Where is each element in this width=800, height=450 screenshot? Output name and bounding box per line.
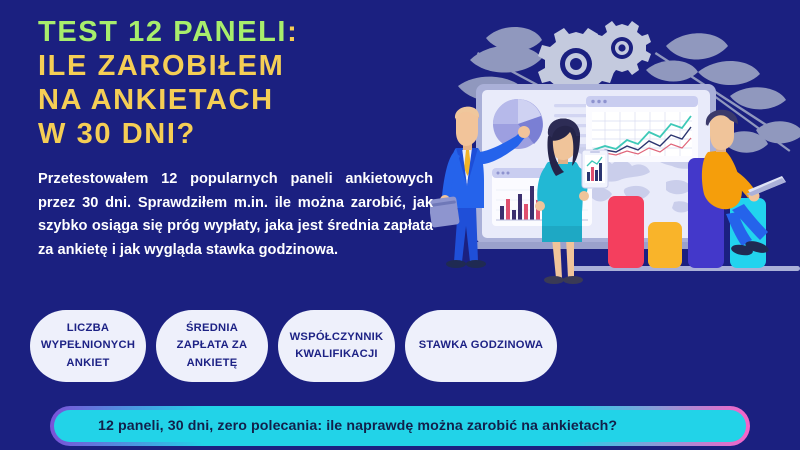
pill-liczba-wypelnionych-ankiet[interactable]: LICZBA WYPEŁNIONYCH ANKIET <box>30 310 146 382</box>
bar-red <box>608 196 644 268</box>
pill-srednia-zaplata-za-ankiete[interactable]: ŚREDNIA ZAPŁATA ZA ANKIETĘ <box>156 310 268 382</box>
pill-wspolczynnik-kwalifikacji[interactable]: WSPÓŁCZYNNIK KWALIFIKACJI <box>278 310 395 382</box>
intro-paragraph: Przetestowałem 12 popularnych paneli ank… <box>38 168 433 263</box>
headline-line-3: NA ANKIETACH <box>38 86 458 115</box>
headline-line-1-text: TEST 12 PANELI <box>38 16 287 48</box>
bottom-banner-frame: 12 paneli, 30 dni, zero polecania: ile n… <box>50 406 750 446</box>
pill-stawka-godzinowa[interactable]: STAWKA GODZINOWA <box>405 310 557 382</box>
headline-line-4: W 30 DNI? <box>38 120 458 149</box>
headline-colon: : <box>287 16 298 48</box>
pill-row-spacer <box>567 310 782 382</box>
infographic-canvas: TEST 12 PANELI: ILE ZAROBIŁEM NA ANKIETA… <box>0 0 800 450</box>
headline-block: TEST 12 PANELI: ILE ZAROBIŁEM NA ANKIETA… <box>38 18 458 154</box>
tablet-device <box>582 150 608 188</box>
bar-orange <box>648 222 682 268</box>
metric-pill-row: LICZBA WYPEŁNIONYCH ANKIET ŚREDNIA ZAPŁA… <box>30 310 782 382</box>
headline-line-1: TEST 12 PANELI: <box>38 18 458 47</box>
headline-line-2: ILE ZAROBIŁEM <box>38 52 458 81</box>
bottom-banner-text: 12 paneli, 30 dni, zero polecania: ile n… <box>98 418 617 434</box>
bottom-banner: 12 paneli, 30 dni, zero polecania: ile n… <box>54 410 746 442</box>
hero-illustration <box>430 0 800 300</box>
